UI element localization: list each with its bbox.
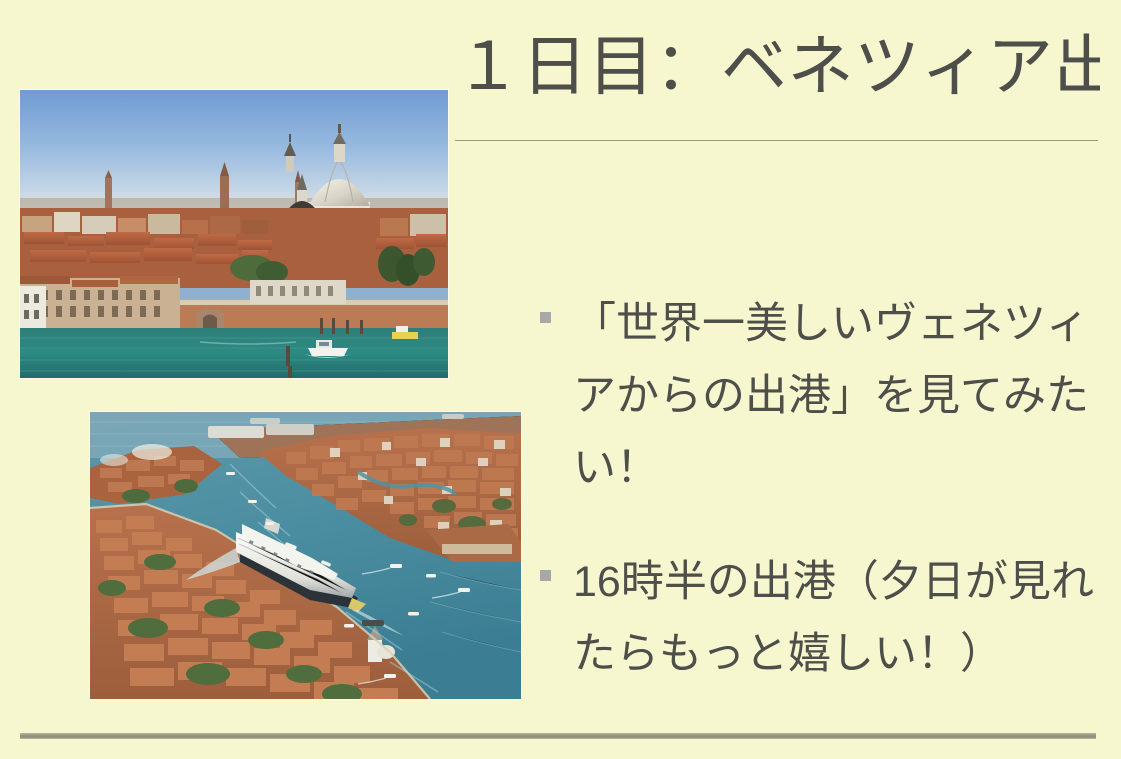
bullet-text-1: 「世界一美しいヴェネツィアからの出港」を見てみたい！ — [573, 288, 1105, 504]
page-title: １日目：ベネツィア出港 — [455, 18, 1100, 118]
square-bullet-icon — [540, 570, 551, 581]
venice-aerial-illustration — [90, 412, 521, 699]
bullet-text-2: 16時半の出港（夕日が見れたらもっと嬉しい！） — [573, 546, 1105, 690]
venice-aerial-cruise-photo — [90, 412, 521, 699]
venice-skyline-illustration — [20, 90, 448, 378]
list-item: 「世界一美しいヴェネツィアからの出港」を見てみたい！ — [540, 288, 1105, 504]
footer-divider — [20, 733, 1096, 739]
venice-skyline-photo — [20, 90, 448, 378]
title-divider — [455, 140, 1098, 141]
slide-canvas: １日目：ベネツィア出港 — [0, 0, 1121, 759]
list-item: 16時半の出港（夕日が見れたらもっと嬉しい！） — [540, 546, 1105, 690]
square-bullet-icon — [540, 312, 551, 323]
bullet-list: 「世界一美しいヴェネツィアからの出港」を見てみたい！ 16時半の出港（夕日が見れ… — [540, 288, 1105, 732]
